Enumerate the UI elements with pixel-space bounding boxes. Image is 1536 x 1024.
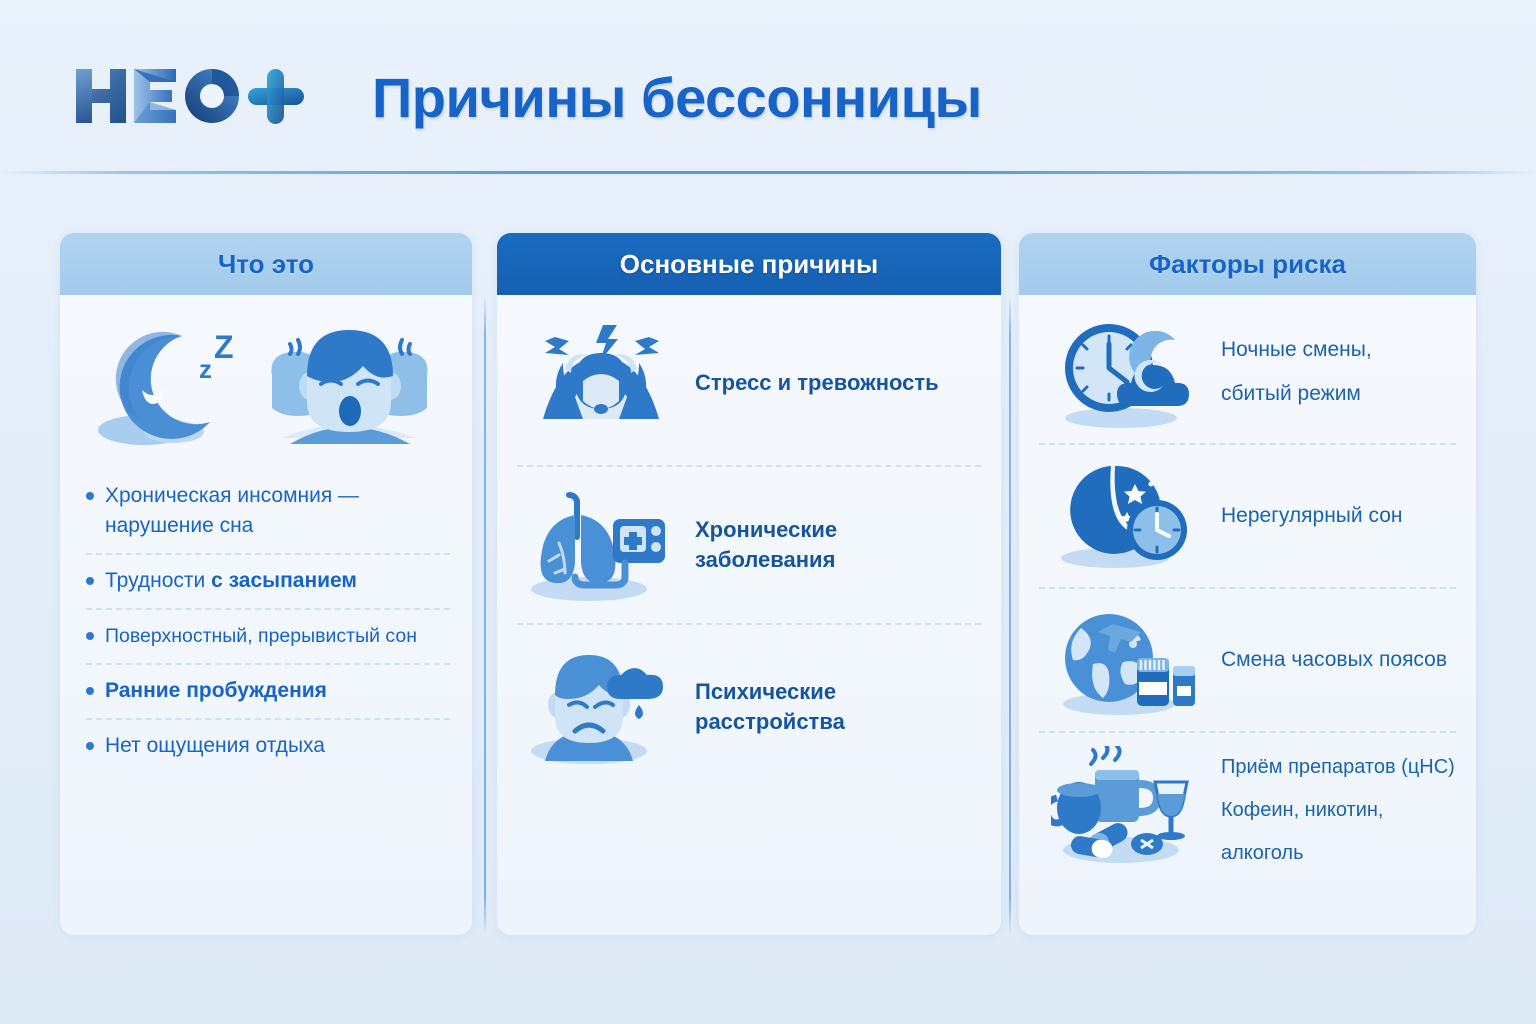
column-divider-left: [484, 295, 486, 935]
row-label: Стресс и тревожность: [695, 368, 939, 398]
card-2-body: Стресс и тревожность: [497, 295, 1001, 789]
icon-container: [1039, 602, 1211, 718]
icon-container: [1039, 458, 1211, 574]
card-what-is-it: Что это z Z: [60, 233, 472, 935]
row-label-line-1: Нерегулярный сон: [1221, 500, 1402, 532]
list-item: Нет ощущения отдыха: [86, 720, 450, 773]
clock-moon-cloud-icon: [1051, 314, 1199, 430]
row-label-group: Приём препаратов (цНС) Кофеин, никотин, …: [1221, 752, 1455, 869]
crescent-stars-clock-icon: [1051, 458, 1199, 574]
row-label-line-2: сбитый режим: [1221, 378, 1372, 410]
list-item: Нерегулярный сон: [1039, 445, 1456, 589]
list-item: Хроническая инсомния — нарушение сна: [86, 470, 450, 555]
stressed-head-lightning-icon: [525, 319, 677, 447]
icon-container: [517, 643, 685, 771]
lungs-blood-pressure-monitor-icon: [525, 485, 677, 605]
bullet-dot-icon: [86, 632, 94, 640]
moon-zzz-icon: z Z: [96, 318, 246, 448]
sad-person-rain-cloud-icon: [525, 643, 677, 771]
bullet-label: Трудности с засыпанием: [105, 566, 357, 596]
row-label-line-1: Приём препаратов (цНС): [1221, 752, 1455, 783]
bullet-dot-icon: [86, 742, 94, 750]
row-label-group: Смена часовых поясов: [1221, 644, 1447, 676]
list-item: Психические расстройства: [517, 625, 981, 789]
icon-container: [1039, 746, 1211, 874]
icon-container: [517, 319, 685, 447]
card-2-row-list: Стресс и тревожность: [497, 295, 1001, 789]
list-item: Ночные смены, сбитый режим: [1039, 301, 1456, 445]
header-divider: [0, 171, 1536, 174]
bullet-label: Хроническая инсомния — нарушение сна: [105, 481, 450, 541]
row-label-line-1: Ночные смены,: [1221, 334, 1372, 366]
card-1-bullet-list: Хроническая инсомния — нарушение сна Тру…: [60, 470, 472, 773]
card-1-hero-illustrations: z Z: [60, 295, 472, 470]
icon-container: [517, 485, 685, 605]
bullet-label-regular: Трудности: [105, 569, 211, 592]
row-label-group: Нерегулярный сон: [1221, 500, 1402, 532]
card-2-header: Основные причины: [497, 233, 1001, 295]
neo-plus-logo: [72, 60, 312, 132]
page-header: Причины бессонницы: [0, 0, 1536, 175]
row-label-line-1: Смена часовых поясов: [1221, 644, 1447, 676]
svg-text:z: z: [199, 354, 212, 384]
svg-text:Z: Z: [214, 329, 234, 365]
icon-container: [1039, 314, 1211, 430]
column-divider-right: [1009, 295, 1011, 935]
bullet-label: Ранние пробуждения: [105, 676, 327, 706]
row-label-line-3: алкоголь: [1221, 838, 1455, 869]
logo-icon: [72, 63, 308, 129]
bullet-dot-icon: [86, 492, 94, 500]
row-label-line-2: Кофеин, никотин,: [1221, 795, 1455, 826]
bullet-label: Нет ощущения отдыха: [105, 731, 325, 761]
bullet-label-bold: с засыпанием: [211, 569, 357, 592]
list-item: Поверхностный, прерывистый сон: [86, 610, 450, 665]
card-1-header: Что это: [60, 233, 472, 295]
list-item: Ранние пробуждения: [86, 665, 450, 720]
row-label: Психические расстройства: [695, 677, 981, 737]
card-3-body: Ночные смены, сбитый режим: [1019, 295, 1476, 887]
row-label: Хронические заболевания: [695, 515, 981, 575]
list-item: Приём препаратов (цНС) Кофеин, никотин, …: [1039, 733, 1456, 887]
list-item: Хронические заболевания: [517, 467, 981, 625]
card-1-body: z Z: [60, 295, 472, 773]
bullet-label: Поверхностный, прерывистый сон: [105, 621, 417, 651]
row-label-group: Ночные смены, сбитый режим: [1221, 334, 1372, 410]
list-item: Стресс и тревожность: [517, 301, 981, 467]
page-title: Причины бессонницы: [372, 62, 982, 134]
columns-container: Что это z Z: [0, 233, 1536, 938]
list-item: Смена часовых поясов: [1039, 589, 1456, 733]
card-3-header: Факторы риска: [1019, 233, 1476, 295]
list-item: Трудности с засыпанием: [86, 555, 450, 610]
card-risk-factors: Факторы риска: [1019, 233, 1476, 935]
globe-airplane-pills-icon: [1051, 602, 1199, 718]
bullet-dot-icon: [86, 577, 94, 585]
card-3-row-list: Ночные смены, сбитый режим: [1019, 295, 1476, 887]
coffee-wine-pills-icon: [1051, 746, 1199, 874]
card-main-causes: Основные причины: [497, 233, 1001, 935]
bullet-dot-icon: [86, 687, 94, 695]
sleeping-person-icon: [262, 318, 437, 448]
